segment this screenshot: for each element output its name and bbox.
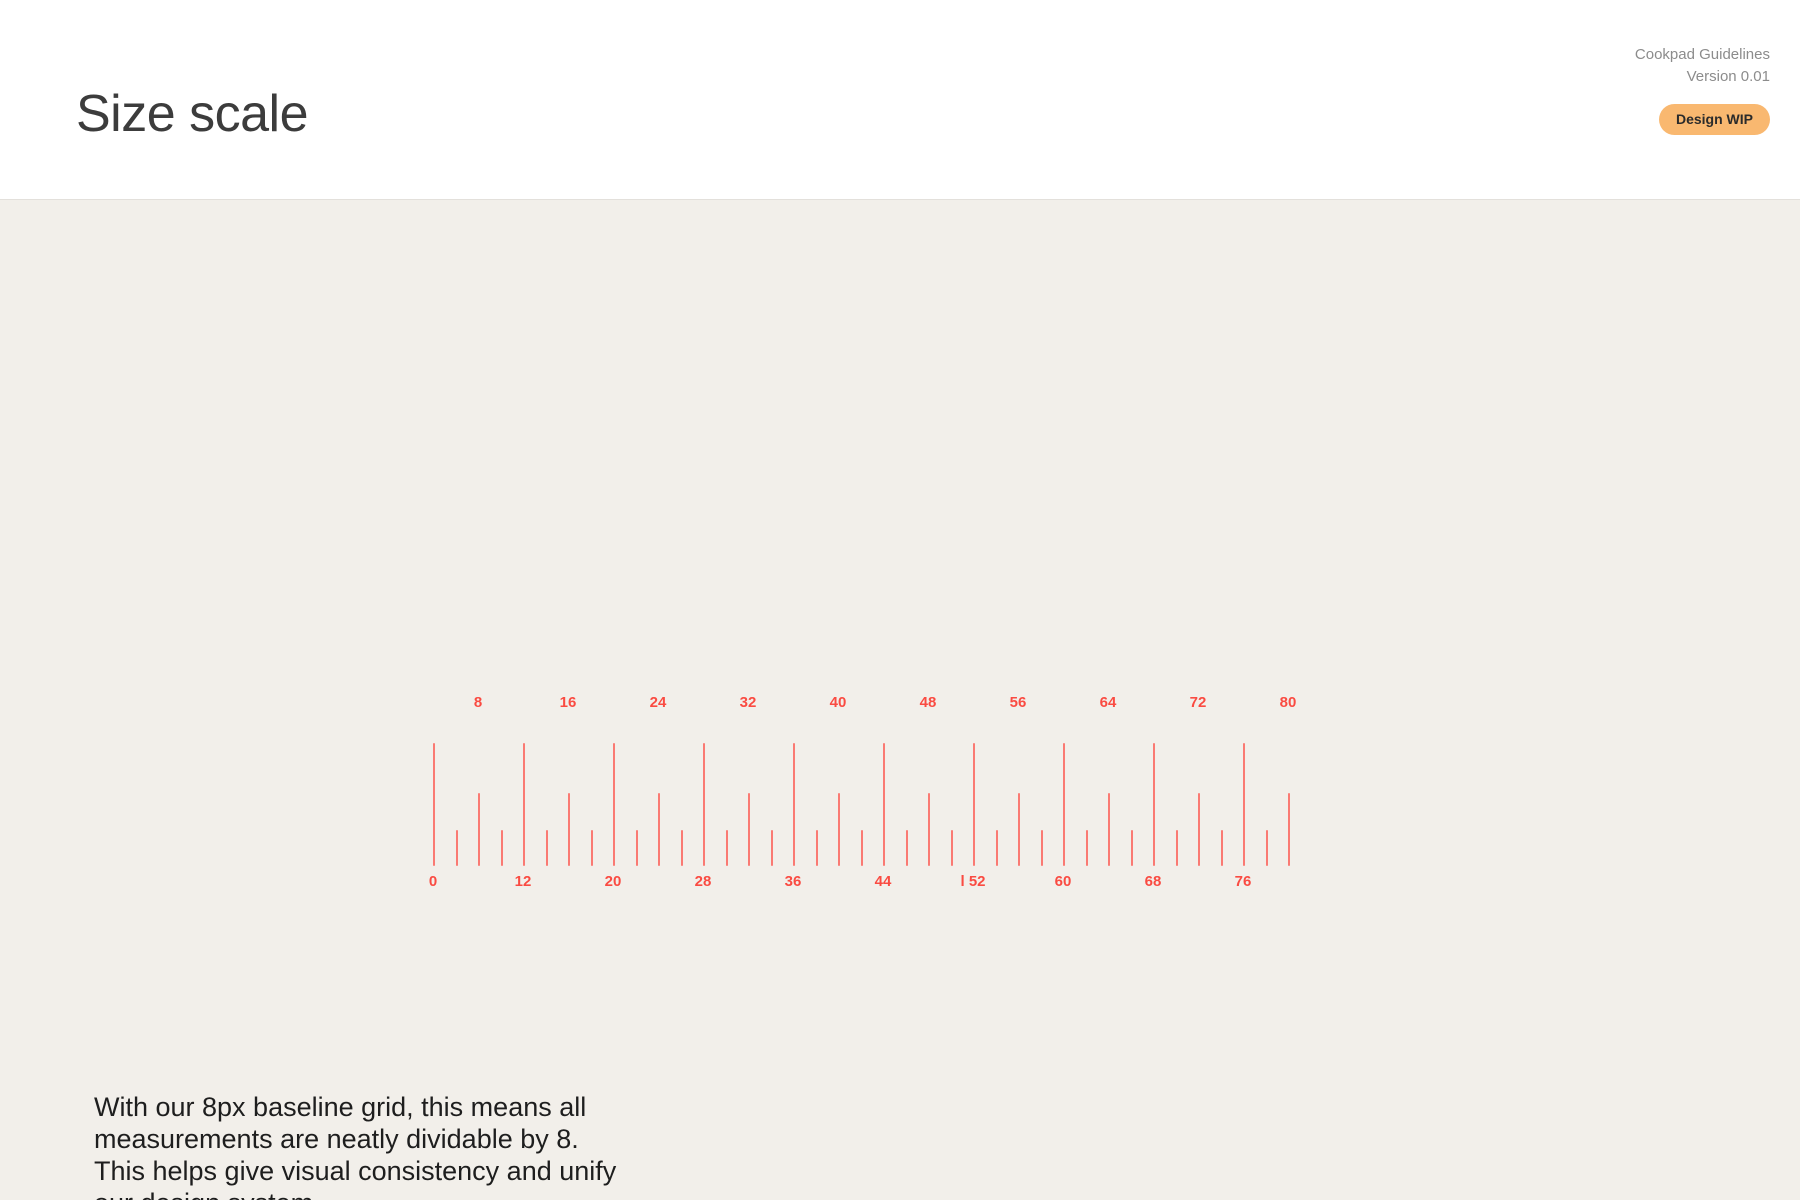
ruler-bottom-label-8: 68 — [1145, 874, 1162, 889]
ruler-tick-medium — [658, 793, 660, 866]
ruler-top-label-4: 40 — [830, 695, 847, 710]
ruler-tick-short — [996, 830, 998, 866]
page-title: Size scale — [76, 88, 308, 140]
ruler-top-label-8: 72 — [1190, 695, 1207, 710]
ruler-top-label-0: 8 — [474, 695, 482, 710]
ruler-tick-tall — [1063, 743, 1065, 866]
ruler-bottom-label-6: l 52 — [960, 874, 985, 889]
ruler-tick-tall — [883, 743, 885, 866]
ruler-tick-group — [433, 743, 1293, 866]
ruler-tick-tall — [1243, 743, 1245, 866]
ruler-top-label-5: 48 — [920, 695, 937, 710]
ruler-tick-medium — [1018, 793, 1020, 866]
ruler-bottom-label-5: 44 — [875, 874, 892, 889]
ruler-tick-short — [681, 830, 683, 866]
design-wip-badge[interactable]: Design WIP — [1659, 104, 1770, 135]
ruler-tick-tall — [523, 743, 525, 866]
ruler-tick-medium — [928, 793, 930, 866]
ruler-tick-medium — [568, 793, 570, 866]
caption-text: With our 8px baseline grid, this means a… — [94, 1092, 634, 1200]
ruler-tick-tall — [793, 743, 795, 866]
ruler-tick-tall — [973, 743, 975, 866]
ruler-tick-short — [591, 830, 593, 866]
ruler-tick-medium — [1288, 793, 1290, 866]
ruler-tick-short — [726, 830, 728, 866]
version-label: Version 0.01 — [1635, 66, 1770, 88]
ruler-bottom-label-3: 28 — [695, 874, 712, 889]
guidelines-label: Cookpad Guidelines — [1635, 44, 1770, 66]
ruler-tick-short — [1176, 830, 1178, 866]
ruler-bottom-label-1: 12 — [515, 874, 532, 889]
ruler-tick-tall — [703, 743, 705, 866]
ruler-bottom-label-9: 76 — [1235, 874, 1252, 889]
ruler-top-labels: 8162432404856647280 — [433, 695, 1293, 721]
ruler-tick-short — [456, 830, 458, 866]
ruler-top-label-6: 56 — [1010, 695, 1027, 710]
ruler-top-label-7: 64 — [1100, 695, 1117, 710]
ruler-bottom-label-0: 0 — [429, 874, 437, 889]
ruler-tick-short — [1266, 830, 1268, 866]
ruler-tick-medium — [1198, 793, 1200, 866]
ruler-tick-medium — [748, 793, 750, 866]
ruler-top-label-3: 32 — [740, 695, 757, 710]
ruler-top-label-9: 80 — [1280, 695, 1297, 710]
ruler-top-label-2: 24 — [650, 695, 667, 710]
size-scale-ruler: 8162432404856647280 01220283644l 5260687… — [433, 695, 1293, 900]
ruler-tick-tall — [433, 743, 435, 866]
ruler-tick-short — [951, 830, 953, 866]
header-meta: Cookpad Guidelines Version 0.01 Design W… — [1635, 44, 1770, 135]
ruler-tick-medium — [838, 793, 840, 866]
ruler-tick-short — [1221, 830, 1223, 866]
ruler-tick-short — [546, 830, 548, 866]
ruler-tick-tall — [1153, 743, 1155, 866]
ruler-tick-short — [1041, 830, 1043, 866]
ruler-tick-short — [771, 830, 773, 866]
ruler-tick-short — [501, 830, 503, 866]
ruler-tick-short — [906, 830, 908, 866]
ruler-bottom-labels: 01220283644l 52606876 — [433, 874, 1293, 900]
ruler-tick-medium — [478, 793, 480, 866]
ruler-tick-tall — [613, 743, 615, 866]
ruler-tick-medium — [1108, 793, 1110, 866]
ruler-tick-short — [1086, 830, 1088, 866]
ruler-tick-short — [816, 830, 818, 866]
ruler-bottom-label-2: 20 — [605, 874, 622, 889]
ruler-bottom-label-4: 36 — [785, 874, 802, 889]
page-body: 8162432404856647280 01220283644l 5260687… — [0, 200, 1800, 1199]
ruler-bottom-label-7: 60 — [1055, 874, 1072, 889]
ruler-tick-short — [636, 830, 638, 866]
ruler-tick-short — [861, 830, 863, 866]
ruler-top-label-1: 16 — [560, 695, 577, 710]
page-header: Size scale Cookpad Guidelines Version 0.… — [0, 0, 1800, 200]
ruler-tick-short — [1131, 830, 1133, 866]
